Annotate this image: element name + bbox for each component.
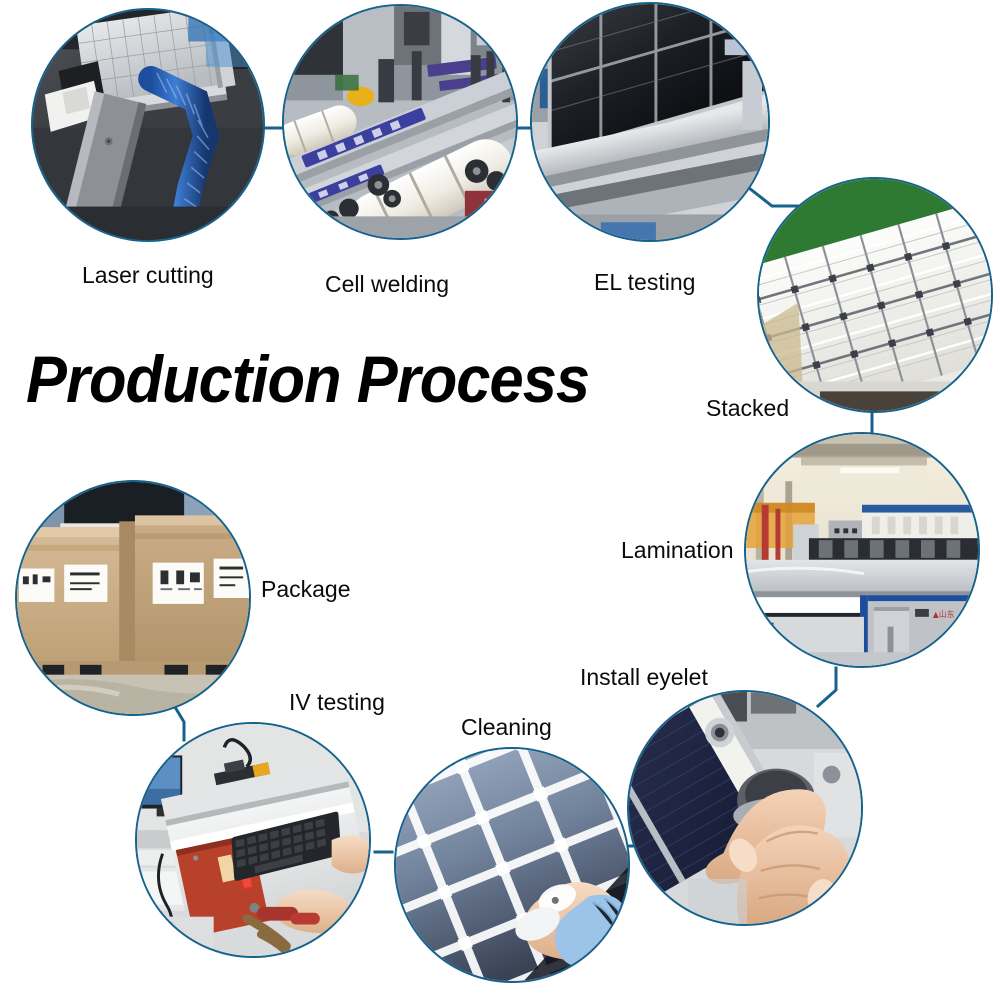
step-label-el-testing: EL testing: [594, 269, 695, 295]
step-photo-stacked[interactable]: [757, 177, 993, 413]
connector-lam-to-eyelet: [818, 668, 836, 706]
step-photo-iv-testing[interactable]: [135, 722, 371, 958]
step-label-install-eyelet: Install eyelet: [580, 664, 708, 690]
step-label-package: Package: [261, 576, 351, 602]
step-photo-lamination[interactable]: ▲山东: [744, 432, 980, 668]
step-label-cleaning: Cleaning: [461, 714, 552, 740]
step-label-stacked: Stacked: [706, 395, 789, 421]
step-label-laser-cutting: Laser cutting: [82, 262, 214, 288]
page-title: Production Process: [26, 344, 589, 414]
step-label-cell-welding: Cell welding: [325, 271, 449, 297]
svg-text:▲山东: ▲山东: [933, 609, 955, 619]
step-photo-cell-welding[interactable]: [282, 4, 518, 240]
step-photo-laser-cutting[interactable]: [31, 8, 265, 242]
step-label-iv-testing: IV testing: [289, 689, 385, 715]
connector-el-to-stacked: [749, 188, 806, 206]
step-photo-cleaning[interactable]: [394, 747, 630, 983]
step-photo-package[interactable]: [15, 480, 251, 716]
step-photo-el-testing[interactable]: [530, 2, 770, 242]
step-photo-install-eyelet[interactable]: [627, 690, 863, 926]
production-process-infographic: Laser cutting: [0, 0, 1000, 1000]
step-label-lamination: Lamination: [621, 537, 734, 563]
